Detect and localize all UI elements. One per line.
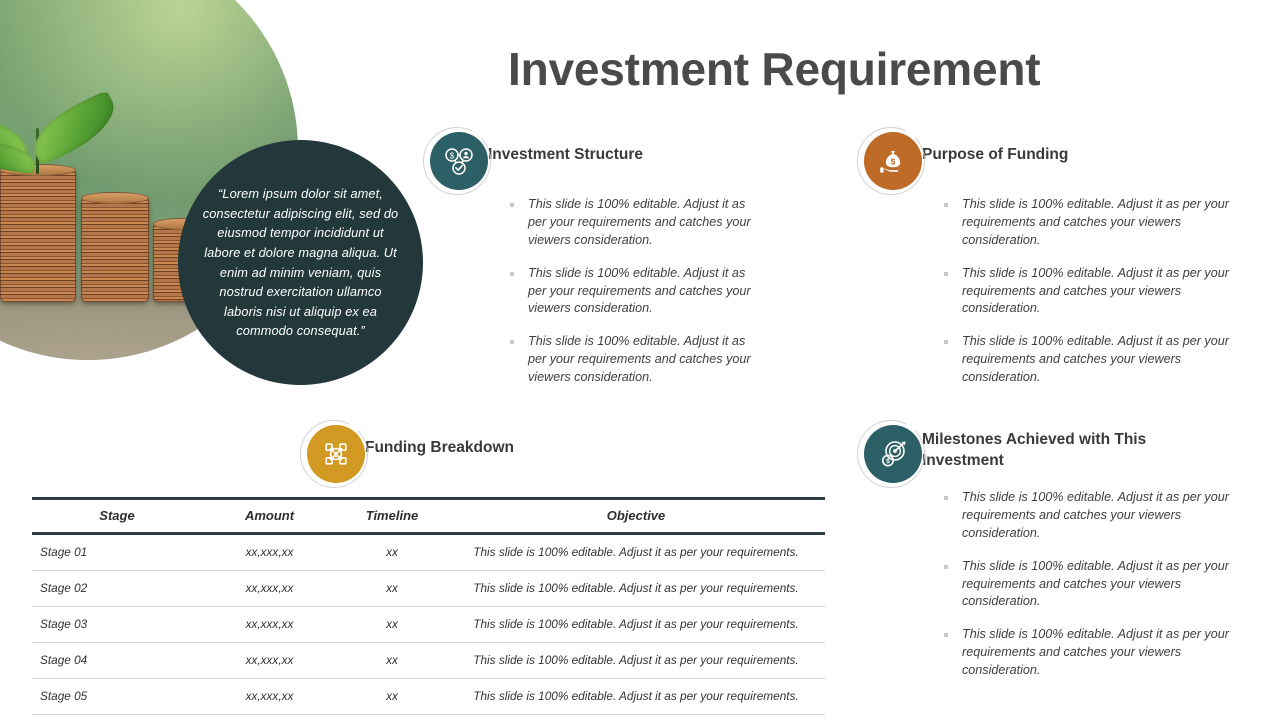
cell-stage: Stage 05 (32, 679, 202, 715)
cell-timeline: xx (337, 534, 447, 571)
column-header-stage: Stage (32, 499, 202, 534)
cell-objective: This slide is 100% editable. Adjust it a… (447, 534, 825, 571)
network-nodes-coin-icon: $ (307, 425, 365, 483)
cell-stage: Stage 02 (32, 571, 202, 607)
list-item: This slide is 100% editable. Adjust it a… (940, 265, 1229, 319)
section-purpose-funding: $ Purpose of Funding This slide is 100% … (864, 132, 1229, 402)
section-header: $ Milestones Achieved with This Investme… (864, 425, 1229, 483)
list-item: This slide is 100% editable. Adjust it a… (506, 265, 760, 319)
quote-circle: “Lorem ipsum dolor sit amet, consectetur… (178, 140, 423, 385)
cell-amount: xx,xxx,xx (202, 571, 337, 607)
icon-wrap: $ (864, 425, 922, 483)
money-bag-hand-icon: $ (864, 132, 922, 190)
quote-text: “Lorem ipsum dolor sit amet, consectetur… (200, 184, 401, 341)
section-title: Milestones Achieved with This Investment (922, 425, 1229, 472)
section-title: Purpose of Funding (922, 132, 1068, 165)
cell-objective: This slide is 100% editable. Adjust it a… (447, 607, 825, 643)
coin-stack-tall (0, 168, 76, 302)
list-item: This slide is 100% editable. Adjust it a… (940, 489, 1229, 543)
cell-amount: xx,xxx,xx (202, 679, 337, 715)
icon-wrap: $ (307, 425, 365, 483)
cell-timeline: xx (337, 607, 447, 643)
table-row: Stage 05 xx,xxx,xx xx This slide is 100%… (32, 679, 825, 715)
table-row: Stage 02 xx,xxx,xx xx This slide is 100%… (32, 571, 825, 607)
list-item: This slide is 100% editable. Adjust it a… (940, 558, 1229, 612)
icon-wrap: $ (430, 132, 488, 190)
cell-timeline: xx (337, 679, 447, 715)
section-header: $ Funding Breakdown (307, 425, 607, 483)
cell-timeline: xx (337, 643, 447, 679)
bullet-list: This slide is 100% editable. Adjust it a… (506, 196, 760, 387)
table-row: Stage 03 xx,xxx,xx xx This slide is 100%… (32, 607, 825, 643)
funding-breakdown-table: Stage Amount Timeline Objective Stage 01… (32, 497, 825, 715)
cell-amount: xx,xxx,xx (202, 534, 337, 571)
bullet-list: This slide is 100% editable. Adjust it a… (940, 489, 1229, 680)
column-header-amount: Amount (202, 499, 337, 534)
section-title: Investment Structure (488, 132, 643, 165)
target-arrow-icon: $ (864, 425, 922, 483)
cell-objective: This slide is 100% editable. Adjust it a… (447, 643, 825, 679)
funding-breakdown-table-wrap: Stage Amount Timeline Objective Stage 01… (32, 497, 825, 715)
list-item: This slide is 100% editable. Adjust it a… (940, 626, 1229, 680)
page-title: Investment Requirement (508, 42, 1040, 96)
cell-objective: This slide is 100% editable. Adjust it a… (447, 571, 825, 607)
svg-text:$: $ (450, 152, 455, 161)
column-header-objective: Objective (447, 499, 825, 534)
list-item: This slide is 100% editable. Adjust it a… (506, 333, 760, 387)
section-investment-structure: $ Investment Structure This slide is 100… (430, 132, 760, 402)
icon-wrap: $ (864, 132, 922, 190)
bullet-list: This slide is 100% editable. Adjust it a… (940, 196, 1229, 387)
svg-text:$: $ (891, 156, 896, 166)
svg-text:$: $ (886, 458, 890, 465)
cell-stage: Stage 04 (32, 643, 202, 679)
section-header: $ Purpose of Funding (864, 132, 1229, 190)
list-item: This slide is 100% editable. Adjust it a… (940, 333, 1229, 387)
table-row: Stage 01 xx,xxx,xx xx This slide is 100%… (32, 534, 825, 571)
list-item: This slide is 100% editable. Adjust it a… (506, 196, 760, 250)
network-money-icon: $ (430, 132, 488, 190)
cell-amount: xx,xxx,xx (202, 643, 337, 679)
column-header-timeline: Timeline (337, 499, 447, 534)
section-milestones: $ Milestones Achieved with This Investme… (864, 425, 1229, 695)
cell-objective: This slide is 100% editable. Adjust it a… (447, 679, 825, 715)
cell-stage: Stage 01 (32, 534, 202, 571)
table-header-row: Stage Amount Timeline Objective (32, 499, 825, 534)
cell-stage: Stage 03 (32, 607, 202, 643)
section-funding-breakdown: $ Funding Breakdown (307, 425, 607, 483)
section-header: $ Investment Structure (430, 132, 760, 190)
cell-amount: xx,xxx,xx (202, 607, 337, 643)
coin-stack-medium (81, 196, 149, 302)
section-title: Funding Breakdown (365, 425, 514, 458)
list-item: This slide is 100% editable. Adjust it a… (940, 196, 1229, 250)
cell-timeline: xx (337, 571, 447, 607)
table-row: Stage 04 xx,xxx,xx xx This slide is 100%… (32, 643, 825, 679)
